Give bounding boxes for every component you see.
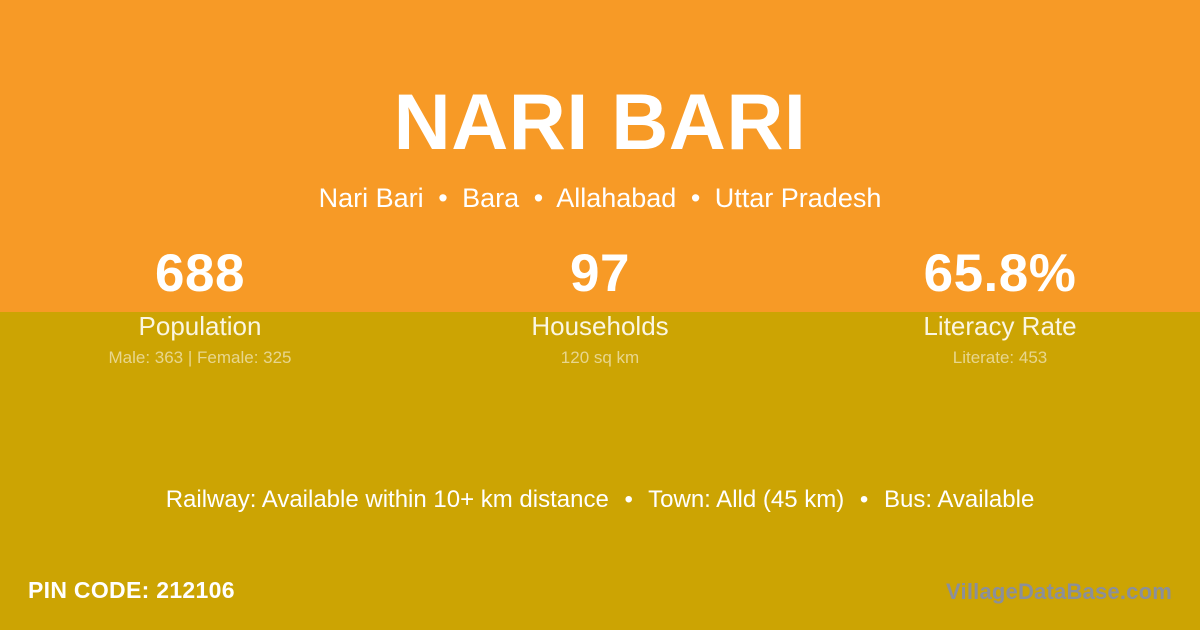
stat-literacy-rate-sub: Literate: 453 xyxy=(800,348,1200,368)
village-info-card: NARI BARI Nari Bari • Bara • Allahabad •… xyxy=(0,0,1200,630)
breadcrumb-block: Bara xyxy=(462,183,519,213)
stat-literacy-rate-label: Literacy Rate xyxy=(800,311,1200,341)
stat-households-value: 97 xyxy=(400,243,800,305)
breadcrumb-village: Nari Bari xyxy=(319,183,424,213)
stat-population: 688 Population Male: 363 | Female: 325 xyxy=(0,243,400,368)
facility-town: Town: Alld (45 km) xyxy=(648,486,844,513)
stat-literacy-rate-value: 65.8% xyxy=(800,243,1200,305)
breadcrumb: Nari Bari • Bara • Allahabad • Uttar Pra… xyxy=(0,183,1200,214)
stat-population-sub: Male: 363 | Female: 325 xyxy=(0,348,400,368)
facility-railway: Railway: Available within 10+ km distanc… xyxy=(166,486,609,513)
breadcrumb-separator-3: • xyxy=(684,183,707,213)
stat-population-value: 688 xyxy=(0,243,400,305)
breadcrumb-separator-2: • xyxy=(527,183,550,213)
page-title: NARI BARI xyxy=(0,82,1200,161)
stat-households: 97 Households 120 sq km xyxy=(400,243,800,368)
stat-population-label: Population xyxy=(0,311,400,341)
facilities-line: Railway: Available within 10+ km distanc… xyxy=(0,484,1200,516)
facility-separator-2: • xyxy=(851,486,877,513)
stats-row: 688 Population Male: 363 | Female: 325 9… xyxy=(0,243,1200,368)
stat-literacy-rate: 65.8% Literacy Rate Literate: 453 xyxy=(800,243,1200,368)
breadcrumb-separator-1: • xyxy=(431,183,454,213)
site-brand: VillageDataBase.com xyxy=(946,578,1172,606)
stat-households-label: Households xyxy=(400,311,800,341)
breadcrumb-district: Allahabad xyxy=(556,183,676,213)
facility-separator-1: • xyxy=(616,486,642,513)
breadcrumb-state: Uttar Pradesh xyxy=(715,183,882,213)
pin-code: PIN CODE: 212106 xyxy=(28,576,235,604)
facility-bus: Bus: Available xyxy=(884,486,1034,513)
stat-households-sub: 120 sq km xyxy=(400,348,800,368)
